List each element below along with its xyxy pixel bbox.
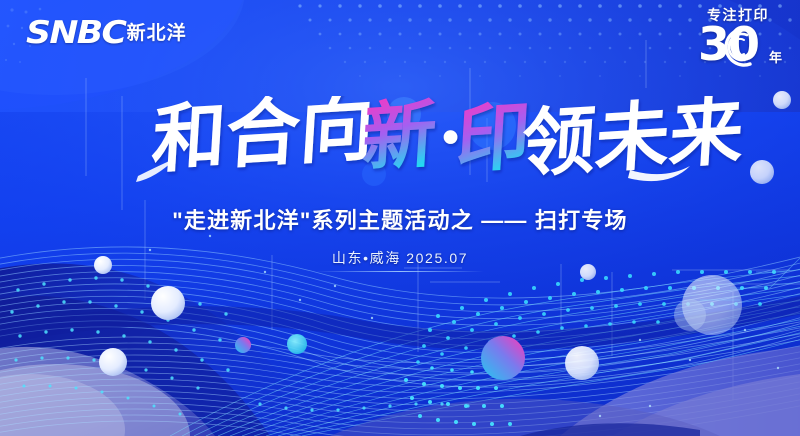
sphere-pink-small bbox=[235, 337, 251, 353]
main-title: 和合向 新 · 印 领未来 bbox=[0, 96, 800, 188]
anniversary-badge: 专注打印 30 年 bbox=[692, 8, 784, 74]
title-seg-1: 和合向 bbox=[150, 96, 377, 184]
sphere-cyan-small bbox=[287, 334, 307, 354]
snbc-wordmark: SNBC bbox=[26, 18, 125, 49]
event-location-date: 山东•威海 2025.07 bbox=[316, 248, 484, 272]
title-seg-gradient-1: 新 bbox=[360, 96, 439, 182]
sphere-white-mid bbox=[99, 348, 127, 376]
badge-number-row: 30 年 bbox=[692, 24, 784, 70]
subtitle: "走进新北洋"系列主题活动之 —— 扫打专场 bbox=[0, 203, 800, 235]
sphere-pink-large bbox=[481, 336, 525, 380]
poster-canvas: SNBC 新北洋 专注打印 30 年 bbox=[0, 0, 800, 436]
main-title-artwork: 和合向 新 · 印 领未来 bbox=[0, 96, 800, 188]
badge-unit: 年 bbox=[769, 47, 782, 66]
event-info-bar: 山东•威海 2025.07 bbox=[0, 248, 800, 272]
sphere-white-large bbox=[151, 286, 185, 320]
sphere-white-dim bbox=[674, 299, 706, 331]
snbc-chinese-name: 新北洋 bbox=[127, 24, 187, 43]
sphere-white-right bbox=[565, 346, 599, 380]
brand-logo[interactable]: SNBC 新北洋 bbox=[26, 14, 187, 52]
